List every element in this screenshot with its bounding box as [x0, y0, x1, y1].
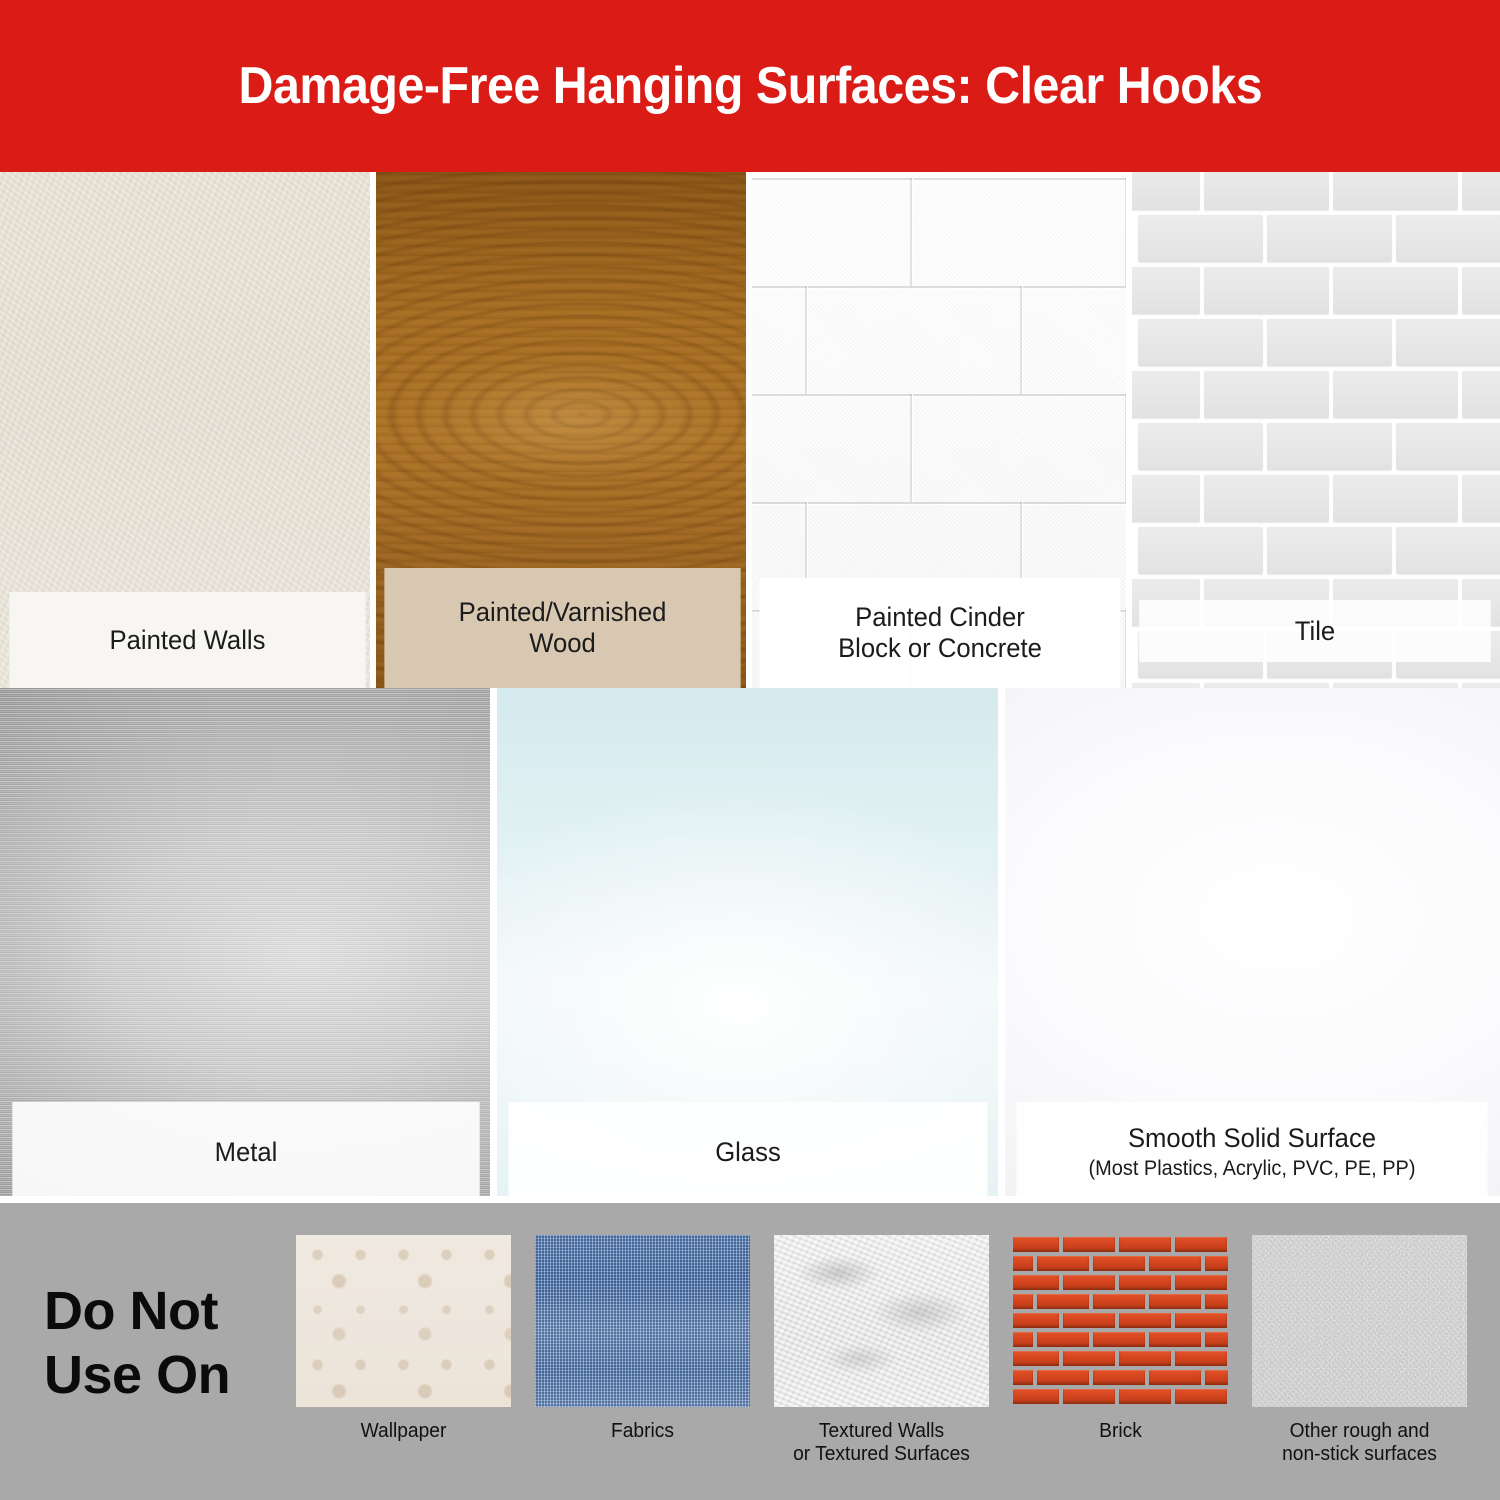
do-not-use-section: Do Not Use On Wallpaper Fabrics: [0, 1202, 1500, 1500]
divider-vertical-1: [370, 172, 376, 688]
label-line-1: Metal: [215, 1137, 278, 1168]
surface-label-painted-walls: Painted Walls: [9, 592, 365, 688]
do-not-use-caption-brick: Brick: [1017, 1420, 1223, 1443]
caption-line-1: Brick: [1017, 1420, 1223, 1443]
surface-tile-tile[interactable]: Tile: [1130, 172, 1500, 688]
surface-tile-painted-varnished-wood[interactable]: Painted/Varnished Wood: [375, 172, 750, 688]
heading-line-2: Use On: [44, 1344, 230, 1408]
caption-line-1: Fabrics: [539, 1420, 745, 1443]
stucco-texture: [1252, 1235, 1467, 1407]
surface-label-smooth-solid-surface: Smooth Solid Surface (Most Plastics, Acr…: [1016, 1102, 1487, 1202]
do-not-use-caption-textured-walls: Textured Walls or Textured Surfaces: [778, 1420, 984, 1466]
surface-tile-metal[interactable]: Metal: [0, 688, 492, 1202]
do-not-use-item-fabrics[interactable]: Fabrics: [535, 1235, 750, 1443]
surface-tile-smooth-solid-surface[interactable]: Smooth Solid Surface (Most Plastics, Acr…: [1004, 688, 1500, 1202]
label-line-1: Glass: [715, 1137, 781, 1168]
heading-line-1: Do Not: [44, 1280, 230, 1344]
damask-wallpaper-texture: [296, 1235, 511, 1407]
caption-line-1: Wallpaper: [300, 1420, 506, 1443]
divider-horizontal-1: [0, 1196, 1500, 1203]
label-line-1: Smooth Solid Surface: [1128, 1123, 1376, 1154]
do-not-use-item-wallpaper[interactable]: Wallpaper: [296, 1235, 511, 1443]
label-line-2: Block or Concrete: [838, 633, 1042, 664]
approved-surfaces-row-2: Metal Glass Smooth Solid Surface (Most P…: [0, 688, 1500, 1202]
label-sublabel: (Most Plastics, Acrylic, PVC, PE, PP): [1088, 1157, 1415, 1181]
surface-tile-painted-cinder-block[interactable]: Painted Cinder Block or Concrete: [750, 172, 1130, 688]
do-not-use-thumbnails: Wallpaper Fabrics Textured Walls or Text…: [280, 1235, 1500, 1485]
divider-vertical-4: [490, 688, 497, 1202]
caption-line-2: or Textured Surfaces: [778, 1443, 984, 1466]
header-banner: Damage-Free Hanging Surfaces: Clear Hook…: [0, 0, 1500, 172]
do-not-use-item-brick[interactable]: Brick: [1013, 1235, 1228, 1443]
surface-tile-painted-walls[interactable]: Painted Walls: [0, 172, 375, 688]
do-not-use-caption-other-rough: Other rough and non-stick surfaces: [1256, 1420, 1462, 1466]
surface-label-painted-cinder-block: Painted Cinder Block or Concrete: [760, 578, 1121, 688]
textured-plaster-texture: [774, 1235, 989, 1407]
surface-label-glass: Glass: [509, 1102, 988, 1202]
surface-tile-glass[interactable]: Glass: [496, 688, 1000, 1202]
caption-line-1: Other rough and: [1256, 1420, 1462, 1443]
surface-label-tile: Tile: [1139, 600, 1491, 662]
do-not-use-caption-wallpaper: Wallpaper: [300, 1420, 506, 1443]
label-line-1: Painted Cinder: [855, 602, 1025, 633]
caption-line-1: Textured Walls: [778, 1420, 984, 1443]
do-not-use-caption-fabrics: Fabrics: [539, 1420, 745, 1443]
denim-fabric-texture: [535, 1235, 750, 1407]
surface-label-metal: Metal: [12, 1102, 479, 1202]
surface-label-painted-varnished-wood: Painted/Varnished Wood: [384, 568, 740, 688]
do-not-use-item-textured-walls[interactable]: Textured Walls or Textured Surfaces: [774, 1235, 989, 1466]
label-line-1: Tile: [1295, 616, 1335, 647]
do-not-use-heading: Do Not Use On: [44, 1280, 230, 1407]
label-line-1: Painted/Varnished: [459, 597, 667, 628]
divider-vertical-3: [1126, 172, 1132, 688]
label-line-1: Painted Walls: [110, 625, 266, 656]
page-title: Damage-Free Hanging Surfaces: Clear Hook…: [238, 56, 1262, 116]
label-line-2: Wood: [529, 628, 596, 659]
caption-line-2: non-stick surfaces: [1256, 1443, 1462, 1466]
infographic-page: Damage-Free Hanging Surfaces: Clear Hook…: [0, 0, 1500, 1500]
divider-vertical-2: [746, 172, 752, 688]
divider-vertical-5: [998, 688, 1005, 1202]
do-not-use-item-other-rough[interactable]: Other rough and non-stick surfaces: [1252, 1235, 1467, 1466]
